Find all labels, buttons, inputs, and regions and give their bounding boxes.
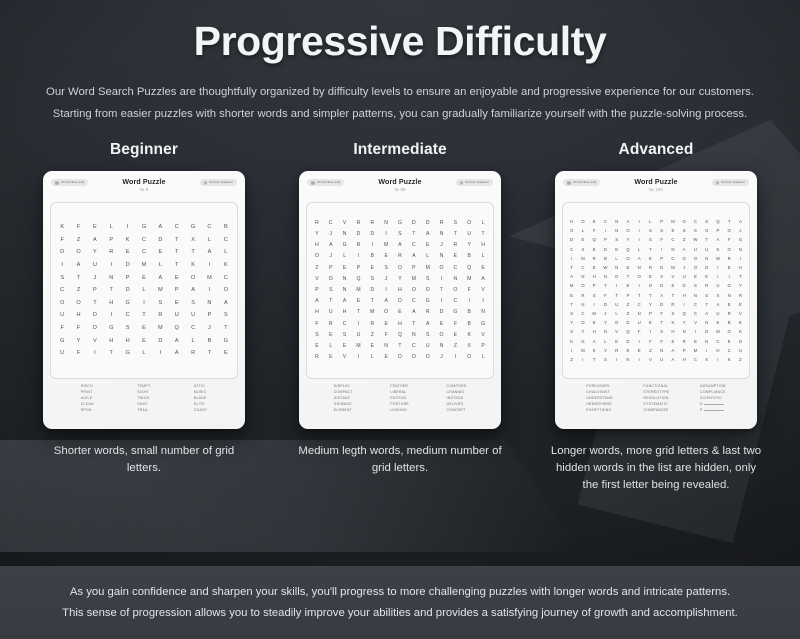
grid-letter[interactable]: I (701, 346, 712, 355)
grid-letter[interactable]: D (87, 309, 103, 322)
grid-letter[interactable]: D (365, 285, 379, 296)
grid-letter[interactable]: C (448, 296, 462, 307)
grid-letter[interactable]: I (645, 327, 656, 336)
grid-letter[interactable]: J (435, 240, 449, 251)
grid-letter[interactable]: L (634, 245, 645, 254)
grid-letter[interactable]: I (136, 297, 152, 310)
grid-letter[interactable]: O (611, 318, 622, 327)
grid-letter[interactable]: V (645, 355, 656, 364)
grid-letter[interactable]: T (435, 285, 449, 296)
grid-letter[interactable]: L (218, 246, 234, 259)
grid-letter[interactable]: F (724, 235, 735, 244)
grid-letter[interactable]: O (54, 297, 70, 310)
grid-letter[interactable]: Q (589, 235, 600, 244)
grid-letter[interactable]: I (566, 346, 577, 355)
grid-letter[interactable]: R (352, 218, 366, 229)
grid-letter[interactable]: M (577, 254, 588, 263)
grid-letter[interactable]: P (656, 254, 667, 263)
grid-letter[interactable]: N (724, 291, 735, 300)
grid-letter[interactable]: F (54, 322, 70, 335)
grid-letter[interactable]: O (690, 254, 701, 263)
grid-letter[interactable]: S (667, 309, 678, 318)
grid-letter[interactable]: I (435, 296, 449, 307)
word-list-item[interactable]: DISCO (81, 384, 94, 389)
grid-letter[interactable]: C (690, 309, 701, 318)
grid-letter[interactable]: C (566, 245, 577, 254)
grid-letter[interactable]: E (589, 217, 600, 226)
grid-letter[interactable]: T (136, 309, 152, 322)
grid-letter[interactable]: I (352, 251, 366, 262)
grid-letter[interactable]: P (119, 272, 135, 285)
grid-letter[interactable]: W (712, 254, 723, 263)
grid-letter[interactable]: T (656, 318, 667, 327)
word-list-item-hidden[interactable]: D (700, 402, 726, 407)
grid-letter[interactable]: S (645, 226, 656, 235)
grid-letter[interactable]: L (201, 234, 217, 247)
grid-letter[interactable]: S (701, 217, 712, 226)
grid-letter[interactable]: F (656, 337, 667, 346)
grid-letter[interactable]: A (324, 240, 338, 251)
grid-letter[interactable]: L (136, 347, 152, 360)
grid-letter[interactable]: T (169, 246, 185, 259)
grid-letter[interactable]: Y (462, 240, 476, 251)
grid-letter[interactable]: K (218, 259, 234, 272)
grid-letter[interactable]: T (70, 272, 86, 285)
word-list-item[interactable]: THIGH (137, 396, 150, 401)
grid-letter[interactable]: I (656, 245, 667, 254)
grid-letter[interactable]: C (724, 346, 735, 355)
grid-letter[interactable]: G (185, 221, 201, 234)
grid-letter[interactable]: A (393, 240, 407, 251)
grid-letter[interactable]: E (379, 251, 393, 262)
grid-letter[interactable]: F (600, 291, 611, 300)
grid-letter[interactable]: X (701, 355, 712, 364)
grid-letter[interactable]: R (393, 251, 407, 262)
grid-letter[interactable]: M (407, 274, 421, 285)
grid-letter[interactable]: L (103, 221, 119, 234)
grid-letter[interactable]: P (476, 341, 490, 352)
grid-letter[interactable]: F (645, 337, 656, 346)
grid-letter[interactable]: N (634, 309, 645, 318)
grid-letter[interactable]: T (701, 235, 712, 244)
grid-letter[interactable]: R (365, 319, 379, 330)
grid-letter[interactable]: D (393, 352, 407, 363)
grid-letter[interactable]: M (136, 259, 152, 272)
grid-letter[interactable]: D (622, 337, 633, 346)
grid-letter[interactable]: I (712, 272, 723, 281)
grid-letter[interactable]: T (667, 291, 678, 300)
grid-letter[interactable]: E (645, 318, 656, 327)
word-list-item[interactable]: FEATHER (390, 384, 409, 389)
grid-letter[interactable]: N (600, 327, 611, 336)
grid-letter[interactable]: B (724, 318, 735, 327)
grid-letter[interactable]: F (54, 234, 70, 247)
grid-letter[interactable]: G (448, 307, 462, 318)
word-list-item[interactable]: GRIMACE (334, 402, 353, 407)
grid-letter[interactable]: O (577, 281, 588, 290)
grid-letter[interactable]: O (724, 226, 735, 235)
grid-letter[interactable]: J (435, 352, 449, 363)
grid-letter[interactable]: A (421, 229, 435, 240)
grid-letter[interactable]: T (566, 300, 577, 309)
grid-letter[interactable]: C (690, 300, 701, 309)
grid-letter[interactable]: R (448, 240, 462, 251)
grid-letter[interactable]: C (338, 319, 352, 330)
grid-letter[interactable]: O (735, 337, 746, 346)
grid-letter[interactable]: V (735, 309, 746, 318)
word-list-item[interactable]: TRAIL (137, 408, 150, 413)
grid-letter[interactable]: Y (600, 346, 611, 355)
grid-letter[interactable]: H (310, 307, 324, 318)
grid-letter[interactable]: R (724, 309, 735, 318)
grid-letter[interactable]: N (379, 218, 393, 229)
grid-letter[interactable]: G (421, 296, 435, 307)
grid-letter[interactable]: C (667, 235, 678, 244)
grid-letter[interactable]: A (169, 335, 185, 348)
grid-letter[interactable]: L (185, 335, 201, 348)
grid-letter[interactable]: I (589, 300, 600, 309)
grid-letter[interactable]: N (679, 327, 690, 336)
grid-letter[interactable]: O (324, 274, 338, 285)
grid-letter[interactable]: H (679, 291, 690, 300)
grid-letter[interactable]: T (622, 272, 633, 281)
word-list-item[interactable]: EDITION (390, 396, 409, 401)
grid-letter[interactable]: A (656, 291, 667, 300)
grid-letter[interactable]: J (201, 322, 217, 335)
grid-letter[interactable]: F (70, 221, 86, 234)
grid-letter[interactable]: C (169, 221, 185, 234)
grid-letter[interactable]: Q (393, 330, 407, 341)
grid-letter[interactable]: C (324, 218, 338, 229)
word-list-item[interactable]: COMPLIANCE (700, 390, 726, 395)
grid-letter[interactable]: O (577, 318, 588, 327)
grid-letter[interactable]: E (324, 352, 338, 363)
grid-letter[interactable]: D (87, 322, 103, 335)
grid-letter[interactable]: E (379, 319, 393, 330)
word-list-item[interactable]: FUNCTIONAL (643, 384, 669, 389)
grid-letter[interactable]: E (169, 297, 185, 310)
grid-letter[interactable]: L (611, 309, 622, 318)
grid-letter[interactable]: R (310, 352, 324, 363)
grid-letter[interactable]: A (667, 355, 678, 364)
grid-letter[interactable]: F (589, 226, 600, 235)
grid-letter[interactable]: T (393, 341, 407, 352)
grid-letter[interactable]: I (690, 327, 701, 336)
grid-letter[interactable]: T (185, 246, 201, 259)
grid-letter[interactable]: X (656, 272, 667, 281)
grid-letter[interactable]: P (169, 284, 185, 297)
grid-letter[interactable]: B (201, 335, 217, 348)
grid-letter[interactable]: N (448, 274, 462, 285)
grid-letter[interactable]: Q (352, 274, 366, 285)
grid-letter[interactable]: C (577, 309, 588, 318)
grid-letter[interactable]: O (421, 285, 435, 296)
grid-letter[interactable]: U (54, 347, 70, 360)
word-list-item[interactable]: EVERYTHING (586, 408, 613, 413)
grid-letter[interactable]: E (393, 307, 407, 318)
grid-letter[interactable]: L (365, 352, 379, 363)
grid-letter[interactable]: Z (70, 284, 86, 297)
grid-letter[interactable]: A (338, 296, 352, 307)
word-search-grid[interactable]: HOECNAILPMOCSQTAOLFINOISSESSOPOJDEQPSYIS… (566, 217, 746, 364)
grid-letter[interactable]: I (152, 347, 168, 360)
grid-letter[interactable]: V (690, 318, 701, 327)
puzzle-solution-button[interactable]: ◎Puzzle Solution (200, 179, 237, 186)
grid-letter[interactable]: F (70, 322, 86, 335)
grid-letter[interactable]: M (690, 346, 701, 355)
grid-letter[interactable]: I (712, 355, 723, 364)
grid-letter[interactable]: O (379, 307, 393, 318)
grid-letter[interactable]: E (338, 341, 352, 352)
grid-letter[interactable]: N (435, 341, 449, 352)
grid-letter[interactable]: D (152, 335, 168, 348)
grid-letter[interactable]: Q (712, 217, 723, 226)
grid-letter[interactable]: N (690, 291, 701, 300)
grid-letter[interactable]: S (589, 291, 600, 300)
grid-letter[interactable]: A (735, 217, 746, 226)
grid-letter[interactable]: A (218, 297, 234, 310)
puzzle-solution-button[interactable]: ◎Puzzle Solution (712, 179, 749, 186)
word-list-item[interactable]: SCIENTIFIC (700, 396, 726, 401)
word-list-item[interactable]: SIGHT (137, 390, 150, 395)
grid-letter[interactable]: I (352, 319, 366, 330)
grid-letter[interactable]: E (735, 318, 746, 327)
grid-letter[interactable]: T (324, 296, 338, 307)
grid-letter[interactable]: J (679, 263, 690, 272)
grid-letter[interactable]: V (338, 218, 352, 229)
grid-letter[interactable]: T (87, 297, 103, 310)
grid-letter[interactable]: K (185, 259, 201, 272)
grid-letter[interactable]: R (645, 263, 656, 272)
grid-letter[interactable]: D (656, 281, 667, 290)
grid-letter[interactable]: Y (393, 274, 407, 285)
grid-letter[interactable]: O (310, 251, 324, 262)
grid-letter[interactable]: E (622, 281, 633, 290)
grid-letter[interactable]: H (712, 346, 723, 355)
grid-letter[interactable]: A (421, 319, 435, 330)
grid-letter[interactable]: P (656, 217, 667, 226)
grid-letter[interactable]: C (448, 263, 462, 274)
grid-letter[interactable]: Z (645, 346, 656, 355)
word-list-item[interactable]: SYSTEMATIC (643, 402, 669, 407)
grid-letter[interactable]: Q (169, 322, 185, 335)
word-list-item[interactable]: POSTURE (390, 402, 409, 407)
grid-letter[interactable]: N (103, 272, 119, 285)
grid-letter[interactable]: E (365, 341, 379, 352)
grid-letter[interactable]: L (645, 217, 656, 226)
grid-letter[interactable]: C (712, 337, 723, 346)
grid-letter[interactable]: M (589, 309, 600, 318)
grid-letter[interactable]: T (634, 291, 645, 300)
grid-letter[interactable]: N (611, 263, 622, 272)
grid-letter[interactable]: N (611, 226, 622, 235)
grid-letter[interactable]: T (589, 355, 600, 364)
grid-letter[interactable]: C (218, 234, 234, 247)
grid-letter[interactable]: D (407, 218, 421, 229)
grid-letter[interactable]: Z (679, 235, 690, 244)
grid-letter[interactable]: Q (679, 309, 690, 318)
grid-letter[interactable]: E (735, 300, 746, 309)
grid-letter[interactable]: O (622, 254, 633, 263)
grid-letter[interactable]: M (152, 284, 168, 297)
all-puzzles-list-button[interactable]: ▤All Puzzles List (51, 179, 88, 186)
grid-letter[interactable]: S (421, 274, 435, 285)
grid-letter[interactable]: K (735, 327, 746, 336)
grid-letter[interactable]: F (379, 330, 393, 341)
grid-letter[interactable]: U (611, 300, 622, 309)
grid-letter[interactable]: R (352, 240, 366, 251)
grid-letter[interactable]: E (667, 337, 678, 346)
grid-letter[interactable]: R (589, 254, 600, 263)
grid-letter[interactable]: E (136, 322, 152, 335)
word-list-item[interactable]: CHIMPANZEE (643, 408, 669, 413)
grid-letter[interactable]: P (407, 263, 421, 274)
word-list-item[interactable]: SHOT (137, 402, 150, 407)
grid-letter[interactable]: T (600, 281, 611, 290)
grid-letter[interactable]: O (566, 226, 577, 235)
grid-letter[interactable]: I (735, 254, 746, 263)
grid-letter[interactable]: O (634, 272, 645, 281)
grid-letter[interactable]: E (667, 226, 678, 235)
grid-letter[interactable]: T (169, 259, 185, 272)
grid-letter[interactable]: N (600, 272, 611, 281)
grid-letter[interactable]: C (634, 300, 645, 309)
grid-letter[interactable]: E (476, 263, 490, 274)
grid-letter[interactable]: P (589, 281, 600, 290)
grid-letter[interactable]: J (324, 251, 338, 262)
grid-letter[interactable]: D (435, 307, 449, 318)
grid-letter[interactable]: K (589, 346, 600, 355)
grid-letter[interactable]: N (338, 229, 352, 240)
grid-letter[interactable]: R (435, 218, 449, 229)
grid-letter[interactable]: C (218, 272, 234, 285)
grid-letter[interactable]: A (679, 245, 690, 254)
grid-letter[interactable]: N (701, 318, 712, 327)
grid-letter[interactable]: Q (462, 263, 476, 274)
grid-letter[interactable]: L (476, 352, 490, 363)
grid-letter[interactable]: U (54, 309, 70, 322)
grid-letter[interactable]: E (169, 272, 185, 285)
grid-letter[interactable]: N (701, 254, 712, 263)
grid-letter[interactable]: E (379, 352, 393, 363)
grid-letter[interactable]: M (566, 281, 577, 290)
grid-letter[interactable]: T (724, 217, 735, 226)
grid-letter[interactable]: I (103, 259, 119, 272)
grid-letter[interactable]: D (152, 234, 168, 247)
word-list-item[interactable]: COAST (194, 408, 207, 413)
grid-letter[interactable]: U (690, 245, 701, 254)
grid-letter[interactable]: R (701, 281, 712, 290)
grid-letter[interactable]: A (589, 337, 600, 346)
word-list-item[interactable]: STEREOTYPE (643, 390, 669, 395)
grid-letter[interactable]: A (201, 246, 217, 259)
grid-letter[interactable]: T (476, 229, 490, 240)
grid-letter[interactable]: S (421, 330, 435, 341)
grid-letter[interactable]: U (634, 318, 645, 327)
word-list-item[interactable]: COMPOSE (447, 384, 467, 389)
grid-letter[interactable]: R (724, 254, 735, 263)
grid-letter[interactable]: N (701, 337, 712, 346)
grid-letter[interactable]: P (201, 309, 217, 322)
grid-letter[interactable]: H (476, 240, 490, 251)
grid-letter[interactable]: I (634, 281, 645, 290)
word-list-item[interactable]: INSTEAD (447, 396, 467, 401)
grid-letter[interactable]: E (724, 300, 735, 309)
grid-letter[interactable]: E (589, 263, 600, 272)
grid-letter[interactable]: P (324, 263, 338, 274)
grid-letter[interactable]: I (476, 296, 490, 307)
grid-letter[interactable]: Y (600, 318, 611, 327)
grid-letter[interactable]: R (577, 291, 588, 300)
grid-letter[interactable]: N (379, 341, 393, 352)
grid-letter[interactable]: Y (735, 281, 746, 290)
grid-letter[interactable]: I (379, 285, 393, 296)
grid-letter[interactable]: H (103, 335, 119, 348)
grid-letter[interactable]: H (566, 217, 577, 226)
grid-letter[interactable]: S (218, 309, 234, 322)
grid-letter[interactable]: A (634, 254, 645, 263)
grid-letter[interactable]: L (338, 251, 352, 262)
word-list-item[interactable]: CLEAN (81, 402, 94, 407)
grid-letter[interactable]: G (735, 235, 746, 244)
grid-letter[interactable]: X (185, 234, 201, 247)
grid-letter[interactable]: Y (566, 318, 577, 327)
grid-letter[interactable]: M (201, 272, 217, 285)
grid-letter[interactable]: P (679, 346, 690, 355)
grid-letter[interactable]: D (656, 300, 667, 309)
grid-letter[interactable]: W (690, 235, 701, 244)
grid-letter[interactable]: K (566, 337, 577, 346)
grid-letter[interactable]: N (577, 300, 588, 309)
grid-letter[interactable]: D (600, 300, 611, 309)
grid-letter[interactable]: I (634, 235, 645, 244)
grid-letter[interactable]: U (185, 309, 201, 322)
grid-letter[interactable]: I (435, 274, 449, 285)
grid-letter[interactable]: I (365, 240, 379, 251)
grid-letter[interactable]: C (407, 341, 421, 352)
grid-letter[interactable]: O (435, 263, 449, 274)
grid-letter[interactable]: G (724, 281, 735, 290)
grid-letter[interactable]: E (701, 272, 712, 281)
grid-letter[interactable]: E (712, 318, 723, 327)
grid-letter[interactable]: T (365, 296, 379, 307)
grid-letter[interactable]: T (645, 245, 656, 254)
grid-letter[interactable]: I (712, 263, 723, 272)
grid-letter[interactable]: E (448, 251, 462, 262)
grid-letter[interactable]: D (119, 259, 135, 272)
grid-letter[interactable]: N (611, 217, 622, 226)
grid-letter[interactable]: H (119, 335, 135, 348)
grid-letter[interactable]: C (577, 263, 588, 272)
word-list-item[interactable]: ELITE (194, 402, 207, 407)
grid-letter[interactable]: O (679, 254, 690, 263)
grid-letter[interactable]: I (634, 226, 645, 235)
grid-letter[interactable]: C (667, 254, 678, 263)
grid-letter[interactable]: S (54, 272, 70, 285)
word-list-item[interactable]: UNDERSTAND (586, 396, 613, 401)
grid-letter[interactable]: W (600, 263, 611, 272)
grid-letter[interactable]: H (310, 240, 324, 251)
grid-letter[interactable]: U (712, 281, 723, 290)
grid-letter[interactable]: N (476, 307, 490, 318)
grid-letter[interactable]: S (611, 235, 622, 244)
grid-letter[interactable]: L (611, 254, 622, 263)
grid-letter[interactable]: I (566, 254, 577, 263)
grid-letter[interactable]: L (600, 337, 611, 346)
grid-letter[interactable]: A (566, 272, 577, 281)
grid-letter[interactable]: N (735, 245, 746, 254)
grid-letter[interactable]: G (54, 335, 70, 348)
